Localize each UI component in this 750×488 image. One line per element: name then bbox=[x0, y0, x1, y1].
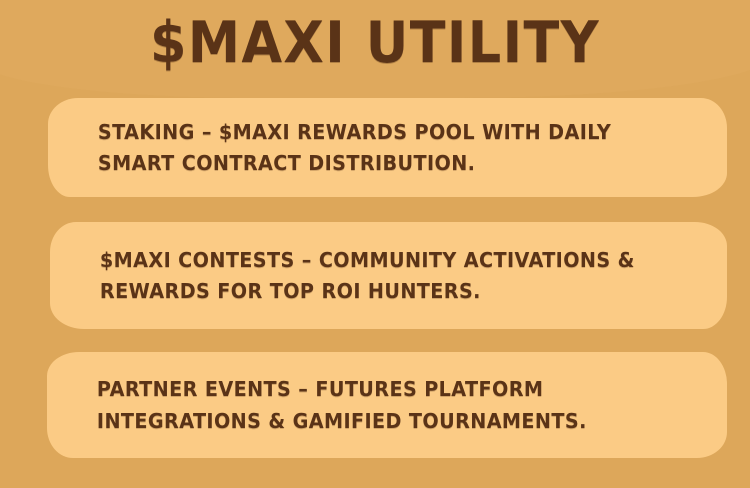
page-title: $MAXI UTILITY bbox=[30, 8, 720, 78]
utility-card-staking: STAKING – $MAXI REWARDS POOL WITH DAILY … bbox=[48, 98, 727, 197]
utility-card-contests: $MAXI CONTESTS – COMMUNITY ACTIVATIONS &… bbox=[50, 222, 727, 329]
utility-card-staking-text: STAKING – $MAXI REWARDS POOL WITH DAILY … bbox=[48, 117, 700, 179]
utility-card-contests-text: $MAXI CONTESTS – COMMUNITY ACTIVATIONS &… bbox=[50, 245, 700, 307]
utility-slide: $MAXI UTILITY STAKING – $MAXI REWARDS PO… bbox=[0, 0, 750, 488]
utility-card-partner-events-text: PARTNER EVENTS – FUTURES PLATFORM INTEGR… bbox=[47, 373, 700, 437]
utility-card-partner-events: PARTNER EVENTS – FUTURES PLATFORM INTEGR… bbox=[47, 352, 727, 458]
